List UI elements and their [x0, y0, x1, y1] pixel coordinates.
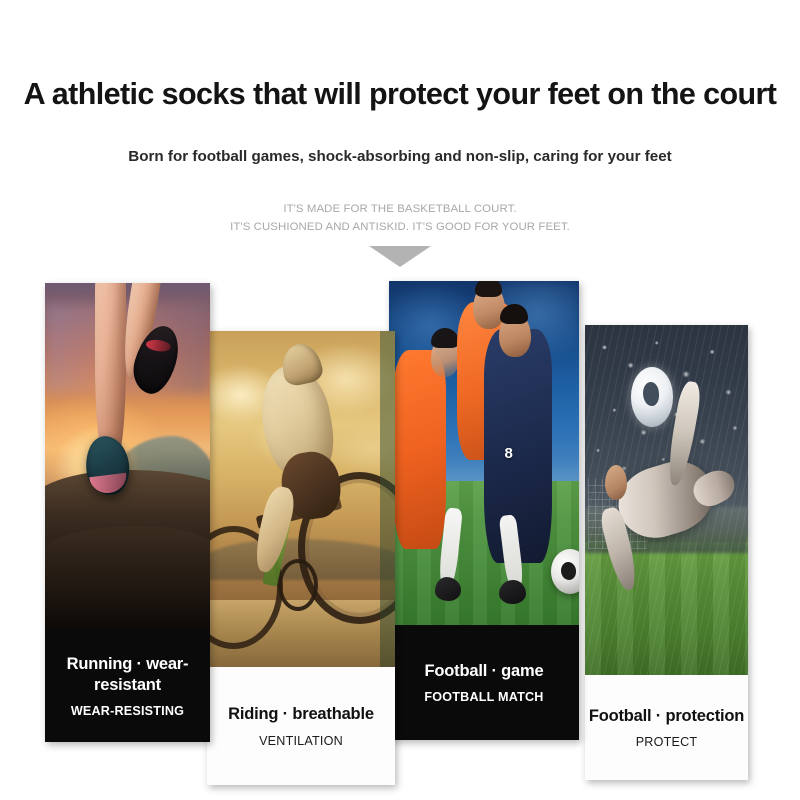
card-subtitle-football-game: FOOTBALL MATCH — [424, 690, 543, 704]
card-photo-football-game: 8 — [389, 281, 579, 625]
card-caption-football-game: Football · game FOOTBALL MATCH — [389, 625, 579, 740]
card-subtitle-football-protection: PROTECT — [636, 735, 698, 749]
card-subtitle-running: WEAR-RESISTING — [71, 704, 184, 718]
card-photo-riding — [207, 331, 395, 667]
card-title-football-game: Football · game — [425, 661, 544, 682]
card-caption-riding: Riding · breathable VENTILATION — [207, 667, 395, 785]
card-photo-football-protection — [585, 325, 748, 675]
card-subtitle-riding: VENTILATION — [259, 734, 343, 748]
card-title-football-protection: Football · protection — [589, 706, 744, 727]
jersey-number: 8 — [495, 446, 522, 487]
feature-card-riding[interactable]: Riding · breathable VENTILATION — [207, 331, 395, 785]
card-photo-running — [45, 283, 210, 630]
feature-card-stack: Running · wear-resistant WEAR-RESISTING — [0, 0, 800, 800]
card-title-riding: Riding · breathable — [228, 704, 374, 725]
feature-card-running[interactable]: Running · wear-resistant WEAR-RESISTING — [45, 283, 210, 742]
feature-card-football-game[interactable]: 8 Football · game FOOTBALL MATCH — [389, 281, 579, 740]
card-caption-running: Running · wear-resistant WEAR-RESISTING — [45, 630, 210, 742]
card-caption-football-protection: Football · protection PROTECT — [585, 675, 748, 780]
card-title-running: Running · wear-resistant — [45, 654, 210, 696]
feature-card-football-protection[interactable]: Football · protection PROTECT — [585, 325, 748, 780]
